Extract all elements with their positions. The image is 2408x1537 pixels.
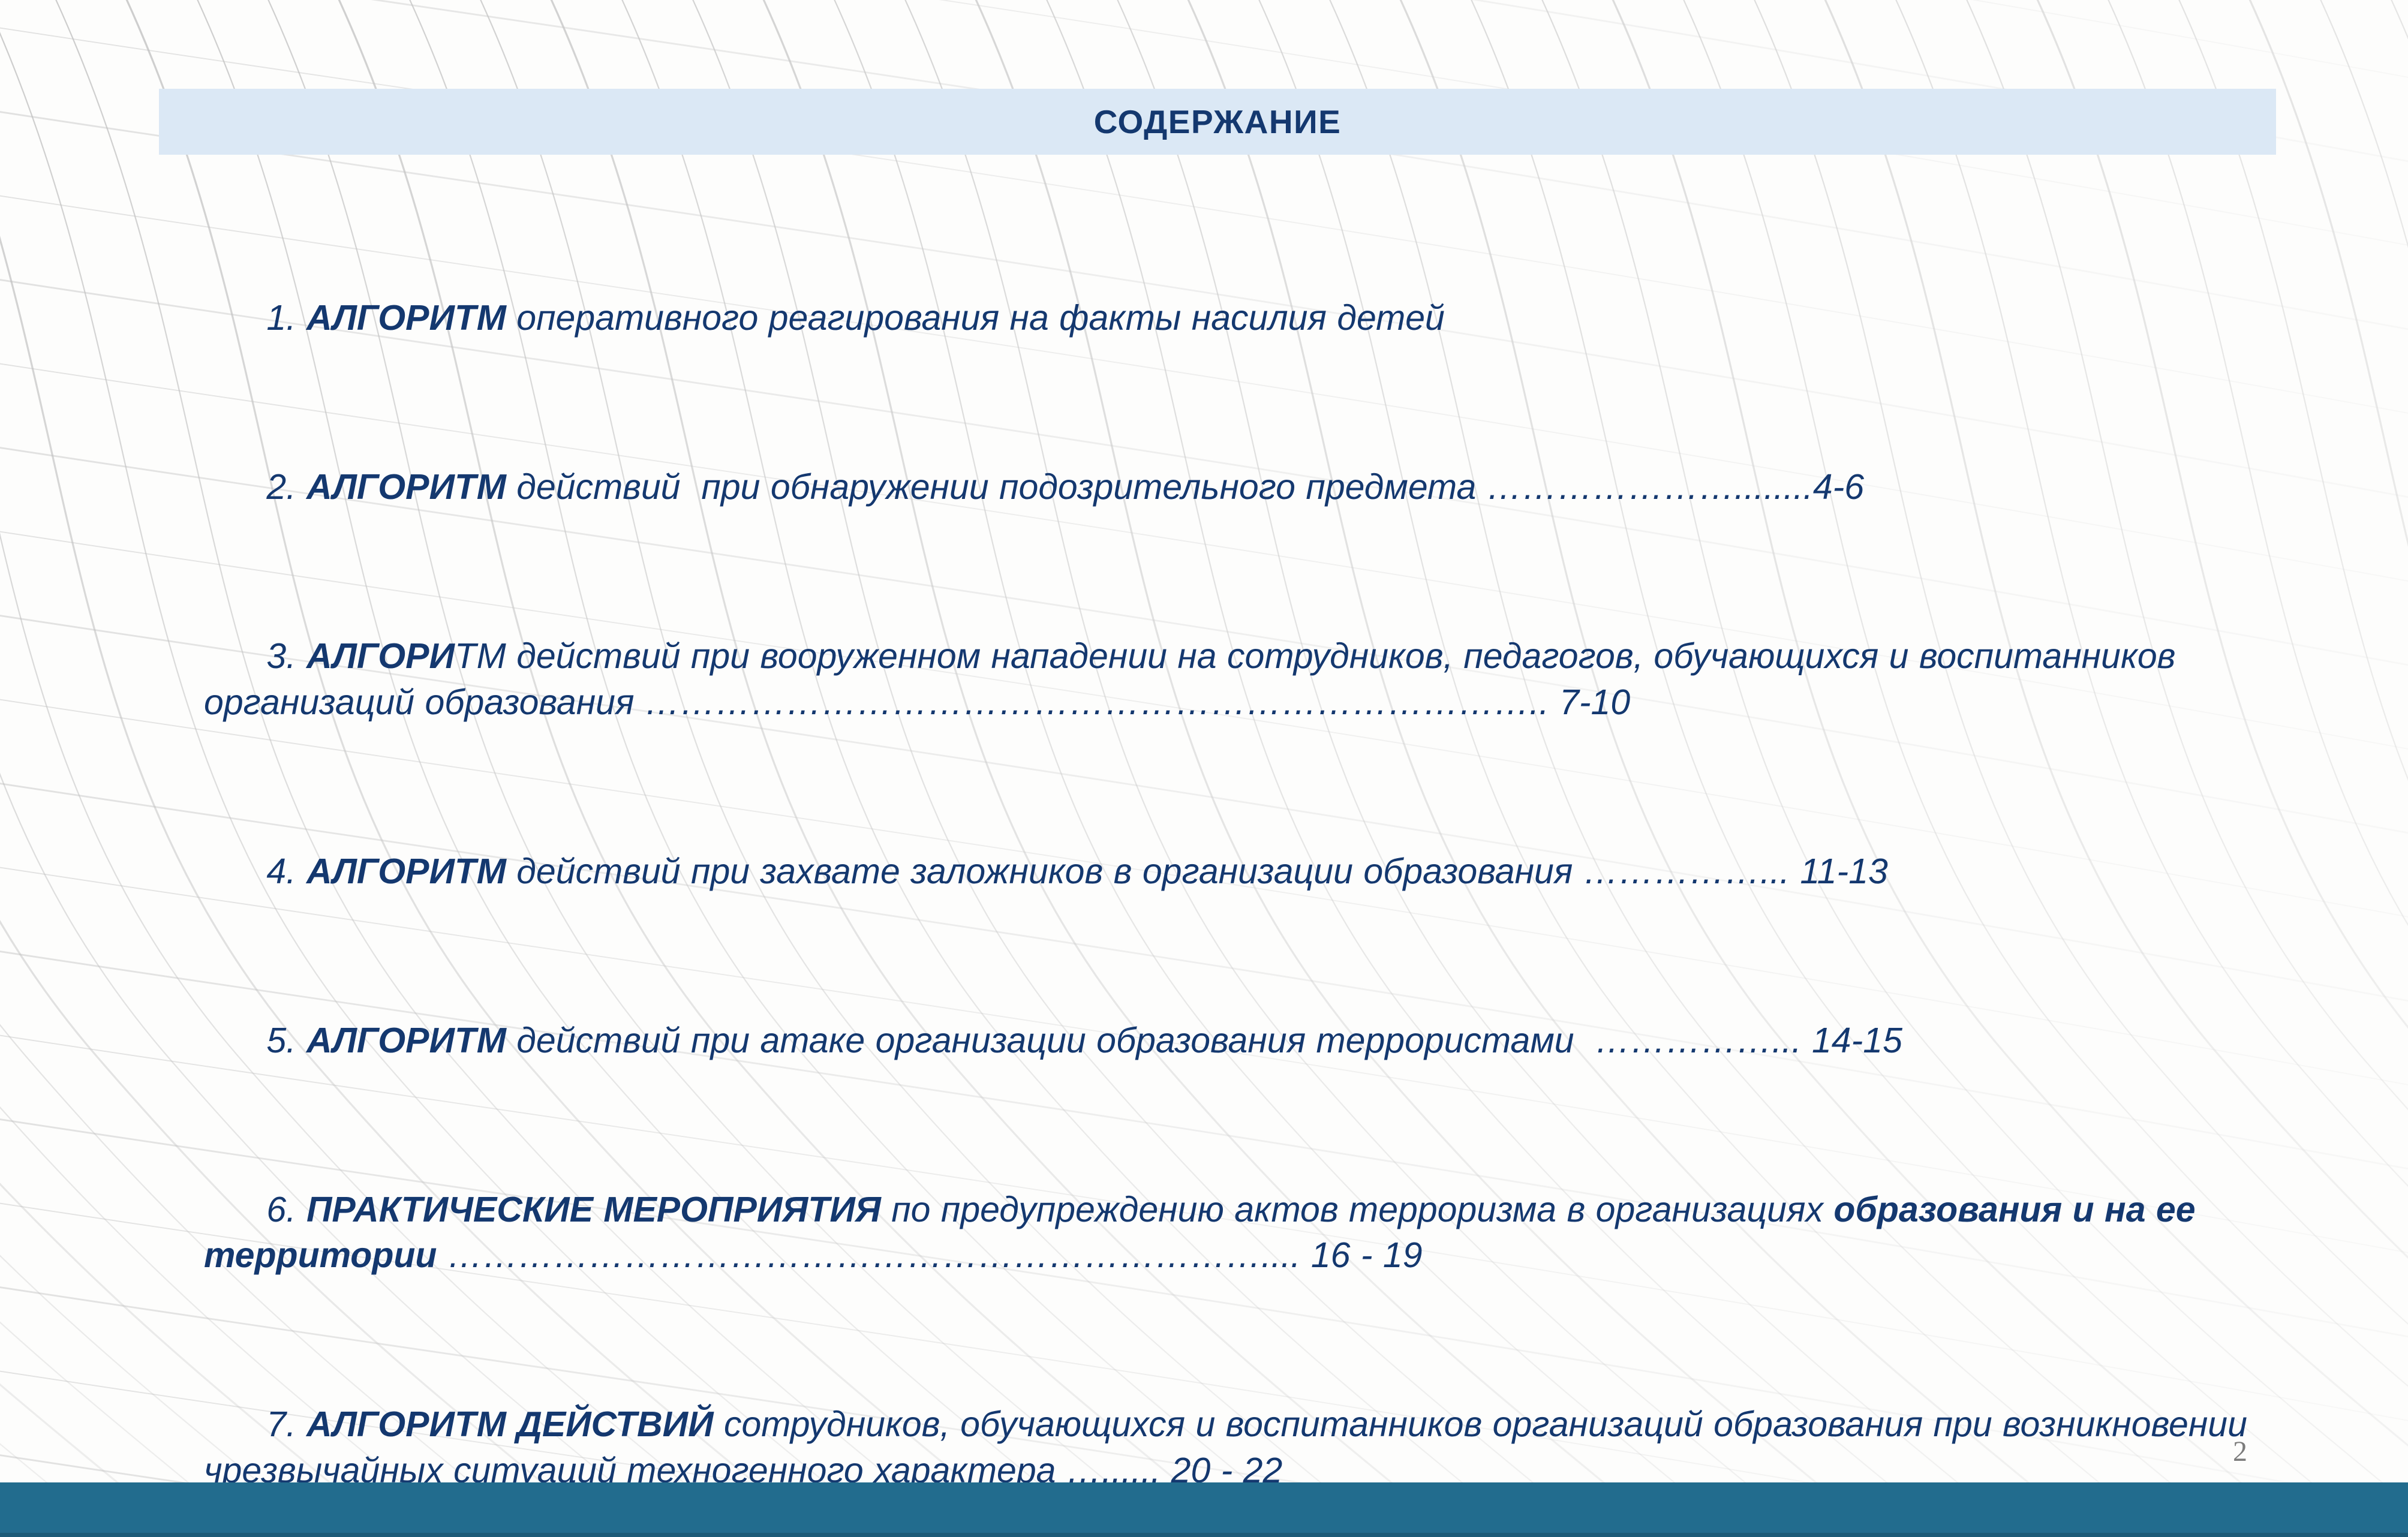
toc-item-text: действий при обнаружении подозрительного… xyxy=(516,467,1486,507)
toc-item-page: 7-10 xyxy=(1549,682,1630,722)
toc-item-text: оперативного реагирования на факты насил… xyxy=(516,298,1445,338)
toc-item-2[interactable]: 2. АЛГОРИТМ действий при обнаружении под… xyxy=(204,418,2291,556)
toc-item-text: действий при захвате заложников в органи… xyxy=(516,852,1583,891)
toc-item-bold: АЛГОРИТМ ДЕЙСТВИЙ xyxy=(306,1404,714,1444)
slide-canvas: СОДЕРЖАНИЕ 1. АЛГОРИТМ оперативного реаг… xyxy=(0,0,2408,1537)
toc-item-number: 6. xyxy=(266,1190,296,1229)
toc-item-page: 4-6 xyxy=(1813,467,1864,507)
header-band: СОДЕРЖАНИЕ xyxy=(159,89,2276,155)
toc-item-page: 16 - 19 xyxy=(1300,1235,1422,1275)
table-of-contents: 1. АЛГОРИТМ оперативного реагирования на… xyxy=(204,249,2291,1537)
toc-item-bold: ПРАКТИЧЕСКИЕ МЕРОПРИЯТИЯ xyxy=(306,1190,881,1229)
toc-item-number: 3. xyxy=(266,636,296,676)
toc-item-bold: АЛГОРИТМ xyxy=(306,1021,506,1060)
slide-number: 2 xyxy=(2233,1435,2247,1468)
toc-item-1[interactable]: 1. АЛГОРИТМ оперативного реагирования на… xyxy=(204,249,2291,387)
toc-item-6[interactable]: 6. ПРАКТИЧЕСКИЕ МЕРОПРИЯТИЯ по предупреж… xyxy=(204,1141,2291,1325)
toc-item-number: 1. xyxy=(266,298,296,338)
toc-item-leader: ………………………………………………………………….. xyxy=(645,682,1549,722)
toc-item-number: 2. xyxy=(266,467,296,507)
toc-item-text: по предупреждению актов терроризма в орг… xyxy=(891,1190,1833,1229)
toc-item-number: 4. xyxy=(266,852,296,891)
toc-item-page: 14-15 xyxy=(1802,1021,1902,1060)
toc-item-number: 7. xyxy=(266,1404,296,1444)
toc-item-bold: АЛГОРИТМ xyxy=(306,298,506,338)
footer-bar xyxy=(0,1482,2408,1537)
toc-item-bold: АЛГОРИ xyxy=(306,636,455,676)
toc-item-text: действий при атаке организации образован… xyxy=(516,1021,1595,1060)
toc-item-bold: АЛГОРИТМ xyxy=(306,467,506,507)
toc-item-leader: …………………........ xyxy=(1487,467,1813,507)
toc-item-3[interactable]: 3. АЛГОРИТМ действий при вооруженном нап… xyxy=(204,587,2291,771)
toc-item-leader: …………………………………………………………….... xyxy=(447,1235,1301,1275)
toc-item-bold: АЛГОРИТМ xyxy=(306,852,506,891)
toc-item-leader: ……………... xyxy=(1595,1021,1801,1060)
toc-item-number: 5. xyxy=(266,1021,296,1060)
toc-item-page: 11-13 xyxy=(1790,852,1888,891)
toc-item-4[interactable]: 4. АЛГОРИТМ действий при захвате заложни… xyxy=(204,802,2291,940)
toc-item-leader: ……………... xyxy=(1583,852,1790,891)
page-title: СОДЕРЖАНИЕ xyxy=(1094,103,1342,141)
toc-item-5[interactable]: 5. АЛГОРИТМ действий при атаке организац… xyxy=(204,971,2291,1109)
